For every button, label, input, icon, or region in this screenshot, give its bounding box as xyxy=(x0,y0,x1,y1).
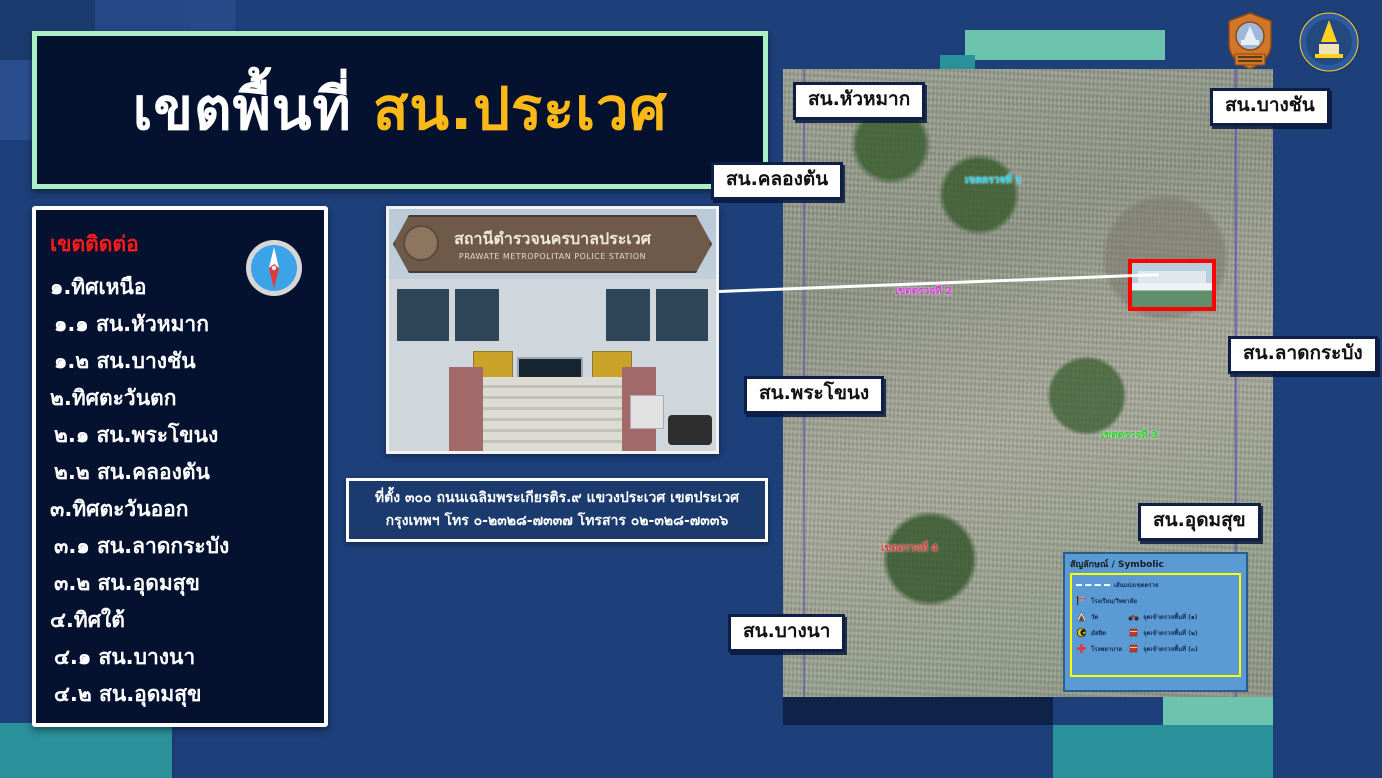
bg-block-below-map xyxy=(783,697,1053,725)
box-icon xyxy=(1128,627,1139,638)
legend-label: จุดเข้าตรวจพื้นที่ (๒) xyxy=(1143,628,1197,638)
map-legend: สัญลักษณ์ / Symbolic เส้นแบ่งเขตตรวจ โรง… xyxy=(1063,552,1248,692)
adjacent-district-item: ๒.๑ สน.พระโขนง xyxy=(50,425,324,446)
adjacent-district-item: ๔.๒ สน.อุดมสุข xyxy=(50,684,324,705)
legend-row-mosque: มัสยิด xyxy=(1076,627,1122,638)
map-callout-ladkrabang[interactable]: สน.ลาดกระบัง xyxy=(1228,336,1378,374)
compass-icon xyxy=(244,238,304,298)
adjacent-district-item: ๓.๒ สน.อุดมสุข xyxy=(50,573,324,594)
photo-window xyxy=(397,289,449,341)
photo-station-sign: สถานีตำรวจนครบาลประเวศ PRAWATE METROPOLI… xyxy=(393,215,712,273)
motorcycle-icon xyxy=(1128,611,1139,622)
police-station-photo: สถานีตำรวจนครบาลประเวศ PRAWATE METROPOLI… xyxy=(386,206,719,454)
bg-block-bottom-right-mint xyxy=(1163,697,1273,725)
box-icon xyxy=(1128,643,1139,654)
legend-row-school: โรงเรียน/วิทยาลัย xyxy=(1076,595,1235,606)
map-callout-bangchan[interactable]: สน.บางชัน xyxy=(1210,88,1330,126)
legend-row-patrol-2: จุดเข้าตรวจพื้นที่ (๒) xyxy=(1128,627,1198,638)
photo-building xyxy=(389,279,716,451)
photo-window xyxy=(455,289,499,341)
legend-col-left: วัด มัสยิด xyxy=(1076,611,1122,659)
photo-window xyxy=(656,289,708,341)
legend-row-patrol-1: จุดเข้าตรวจพื้นที่ (๑) xyxy=(1128,611,1198,622)
adjacent-district-item: ๒.ทิศตะวันตก xyxy=(50,388,324,409)
adjacent-district-item: ๑.๒ สน.บางชัน xyxy=(50,351,324,372)
photo-railing-left xyxy=(449,367,483,451)
map-callout-udomsuk[interactable]: สน.อุดมสุข xyxy=(1138,503,1261,541)
bg-block-bottom-right-navy xyxy=(1273,697,1382,778)
title-text-plain: เขตพื้นที่ xyxy=(133,75,373,143)
map-callout-klongtan[interactable]: สน.คลองตัน xyxy=(711,162,843,200)
adjacent-district-item: ๒.๒ สน.คลองตัน xyxy=(50,462,324,483)
temple-icon xyxy=(1076,611,1087,622)
address-caption: ที่ตั้ง ๓๐๐ ถนนเฉลิมพระเกียรติร.๙ แขวงปร… xyxy=(346,478,768,542)
adjacent-district-item: ๓.๑ สน.ลาดกระบัง xyxy=(50,536,324,557)
photo-sign-emblem-icon xyxy=(403,225,439,261)
map-callout-phrakhanong[interactable]: สน.พระโขนง xyxy=(744,376,884,414)
adjacent-district-item: ๑.๑ สน.หัวหมาก xyxy=(50,314,324,335)
legend-label: มัสยิด xyxy=(1091,628,1106,638)
bg-bar-top-mint xyxy=(965,30,1165,60)
page-title: เขตพื้นที่ สน.ประเวศ xyxy=(133,78,668,142)
photo-sign-thai: สถานีตำรวจนครบาลประเวศ xyxy=(454,227,651,252)
legend-row-temple: วัด xyxy=(1076,611,1122,622)
map-zone-label-4: เขตตรวจที่ 4 xyxy=(881,541,938,556)
map-callout-huamak[interactable]: สน.หัวหมาก xyxy=(793,82,925,120)
photo-window xyxy=(606,289,650,341)
address-line-1: ที่ตั้ง ๓๐๐ ถนนเฉลิมพระเกียรติร.๙ แขวงปร… xyxy=(375,487,739,510)
adjacent-district-item: ๔.๑ สน.บางนา xyxy=(50,647,324,668)
address-line-2: กรุงเทพฯ โทร ๐-๒๓๒๘-๗๓๓๗ โทรสาร ๐๒-๓๒๘-๗… xyxy=(386,510,729,533)
flag-icon xyxy=(1076,595,1087,606)
legend-row-patrol-3: จุดเข้าตรวจพื้นที่ (๓) xyxy=(1128,643,1198,654)
royal-thai-police-badge-icon xyxy=(1219,10,1281,72)
photo-ac-unit xyxy=(630,395,664,429)
bg-block-bottom-left-teal xyxy=(0,723,172,778)
map-zone-label-3: เขตตรวจที่ 3 xyxy=(1101,428,1158,443)
adjacent-district-item: ๓.ทิศตะวันออก xyxy=(50,499,324,520)
adjacent-district-item: ๔.ทิศใต้ xyxy=(50,610,324,631)
station-inset-photo xyxy=(1128,259,1216,311)
legend-label: โรงพยาบาล xyxy=(1091,644,1122,654)
mosque-icon xyxy=(1076,627,1087,638)
dashed-line-icon xyxy=(1076,584,1110,586)
adjacent-districts-panel: เขตติดต่อ ๑.ทิศเหนือ๑.๑ สน.หัวหมาก๑.๒ สน… xyxy=(32,206,328,727)
prawate-police-seal-icon xyxy=(1297,10,1361,74)
title-text-highlight: สน.ประเวศ xyxy=(373,75,667,143)
legend-row-hospital: โรงพยาบาล xyxy=(1076,643,1122,654)
photo-sign-english: PRAWATE METROPOLITAN POLICE STATION xyxy=(459,252,646,261)
slide-canvas: เขตพื้นที่ สน.ประเวศ เขตติดต่อ ๑.ทิศเหนื… xyxy=(0,0,1382,778)
legend-row-boundary: เส้นแบ่งเขตตรวจ xyxy=(1076,580,1235,590)
legend-label: จุดเข้าตรวจพื้นที่ (๓) xyxy=(1143,644,1198,654)
adjacent-districts-list: ๑.ทิศเหนือ๑.๑ สน.หัวหมาก๑.๒ สน.บางชัน๒.ท… xyxy=(50,277,324,705)
bg-block-bottom-right-teal xyxy=(1053,725,1273,778)
map-legend-body: เส้นแบ่งเขตตรวจ โรงเรียน/วิทยาลัย xyxy=(1070,573,1241,677)
photo-steps xyxy=(467,377,637,451)
map-legend-title: สัญลักษณ์ / Symbolic xyxy=(1065,554,1246,573)
photo-motorcycle xyxy=(668,415,712,445)
map-zone-label-2: เขตตรวจที่ 2 xyxy=(895,284,952,299)
slide-title-box: เขตพื้นที่ สน.ประเวศ xyxy=(32,31,768,189)
legend-label: วัด xyxy=(1091,612,1098,622)
hospital-cross-icon xyxy=(1076,643,1087,654)
legend-col-right: จุดเข้าตรวจพื้นที่ (๑) จุดเข้าตรวจพื้นที… xyxy=(1128,611,1198,659)
legend-label: เส้นแบ่งเขตตรวจ xyxy=(1114,580,1158,590)
map-callout-bangna[interactable]: สน.บางนา xyxy=(728,614,845,652)
legend-label: โรงเรียน/วิทยาลัย xyxy=(1091,596,1137,606)
map-zone-label-1: เขตตรวจที่ 1 xyxy=(965,173,1022,188)
legend-label: จุดเข้าตรวจพื้นที่ (๑) xyxy=(1143,612,1197,622)
legend-columns: วัด มัสยิด xyxy=(1076,611,1235,659)
